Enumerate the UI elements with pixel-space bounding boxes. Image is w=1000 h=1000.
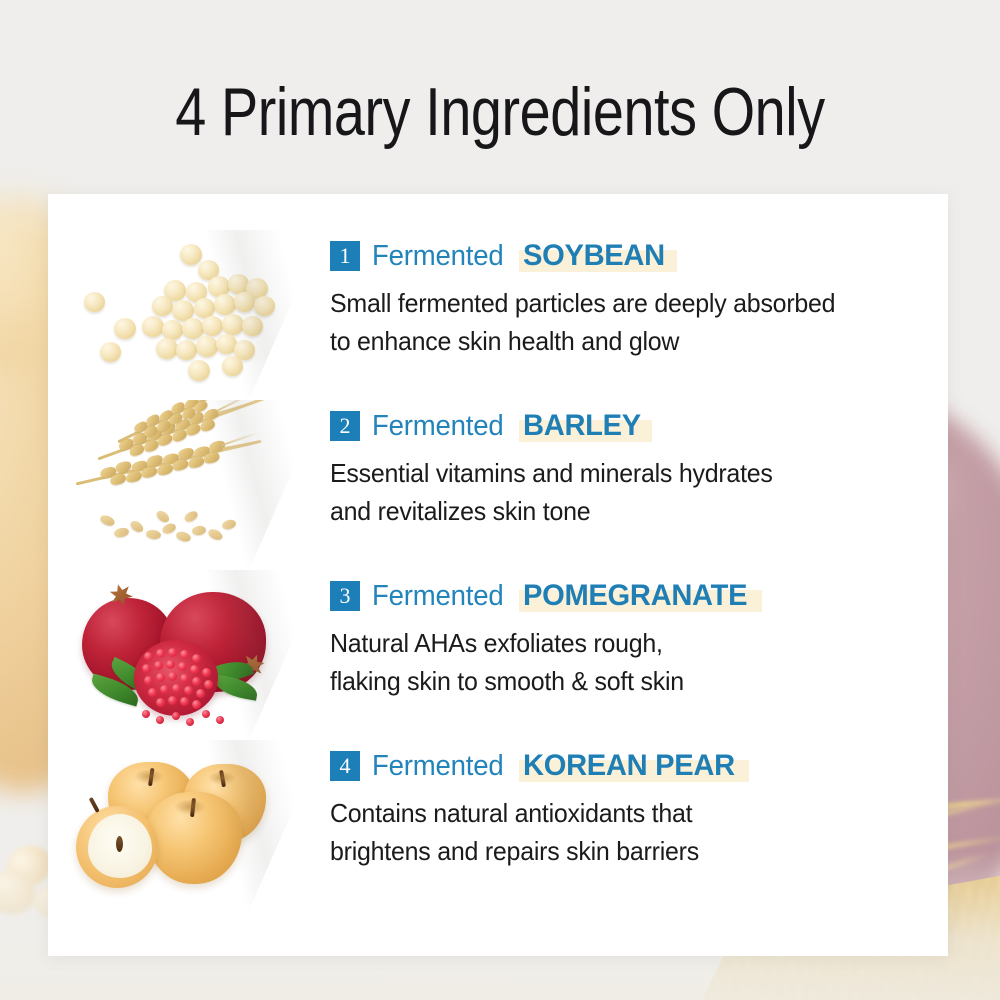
- ingredient-description: Small fermented particles are deeply abs…: [330, 284, 923, 360]
- ingredient-name: KOREAN PEAR: [523, 749, 735, 783]
- ingredient-headline: 4 Fermented KOREAN PEAR: [330, 748, 948, 784]
- soybeans-photo: [56, 230, 324, 400]
- ingredient-headline: 1 Fermented SOYBEAN: [330, 238, 948, 274]
- description-line: to enhance skin health and glow: [330, 322, 923, 360]
- ingredient-name-wrap: BARLEY: [523, 409, 645, 443]
- ingredient-number-badge: 4: [330, 751, 360, 781]
- ingredient-number-badge: 1: [330, 241, 360, 271]
- ingredient-description: Essential vitamins and minerals hydrates…: [330, 454, 923, 530]
- description-line: Small fermented particles are deeply abs…: [330, 284, 923, 322]
- ingredient-name-wrap: KOREAN PEAR: [523, 749, 741, 783]
- ingredient-list: 1 Fermented SOYBEAN Small fermented part…: [48, 194, 948, 956]
- description-line: brightens and repairs skin barriers: [330, 832, 923, 870]
- description-line: and revitalizes skin tone: [330, 492, 923, 530]
- ingredient-prefix: Fermented: [372, 410, 504, 443]
- ingredient-prefix: Fermented: [372, 750, 504, 783]
- description-line: Essential vitamins and minerals hydrates: [330, 454, 923, 492]
- ingredient-text: 2 Fermented BARLEY Essential vitamins an…: [330, 400, 948, 530]
- ingredient-description: Contains natural antioxidants that brigh…: [330, 794, 923, 870]
- ingredient-name-wrap: POMEGRANATE: [523, 579, 754, 613]
- ingredient-prefix: Fermented: [372, 580, 504, 613]
- ingredient-prefix: Fermented: [372, 240, 504, 273]
- ingredient-number-badge: 2: [330, 411, 360, 441]
- description-line: flaking skin to smooth & soft skin: [330, 662, 923, 700]
- ingredient-name: SOYBEAN: [523, 239, 665, 273]
- ingredient-text: 3 Fermented POMEGRANATE Natural AHAs exf…: [330, 570, 948, 700]
- ingredient-name: POMEGRANATE: [523, 579, 747, 613]
- ingredient-headline: 3 Fermented POMEGRANATE: [330, 578, 948, 614]
- pomegranate-photo: [56, 570, 324, 740]
- ingredient-text: 4 Fermented KOREAN PEAR Contains natural…: [330, 740, 948, 870]
- list-item: 1 Fermented SOYBEAN Small fermented part…: [48, 230, 948, 400]
- description-line: Natural AHAs exfoliates rough,: [330, 624, 923, 662]
- korean-pear-photo: [56, 740, 324, 910]
- ingredient-text: 1 Fermented SOYBEAN Small fermented part…: [330, 230, 948, 360]
- page-title: 4 Primary Ingredients Only: [90, 76, 910, 148]
- ingredient-name: BARLEY: [523, 409, 641, 443]
- ingredient-number-badge: 3: [330, 581, 360, 611]
- ingredient-headline: 2 Fermented BARLEY: [330, 408, 948, 444]
- ingredient-name-wrap: SOYBEAN: [523, 239, 669, 273]
- ingredient-description: Natural AHAs exfoliates rough, flaking s…: [330, 624, 923, 700]
- list-item: 3 Fermented POMEGRANATE Natural AHAs exf…: [48, 570, 948, 740]
- list-item: 2 Fermented BARLEY Essential vitamins an…: [48, 400, 948, 570]
- ingredients-card: 1 Fermented SOYBEAN Small fermented part…: [48, 194, 948, 956]
- description-line: Contains natural antioxidants that: [330, 794, 923, 832]
- barley-photo: [56, 400, 324, 570]
- list-item: 4 Fermented KOREAN PEAR Contains natural…: [48, 740, 948, 910]
